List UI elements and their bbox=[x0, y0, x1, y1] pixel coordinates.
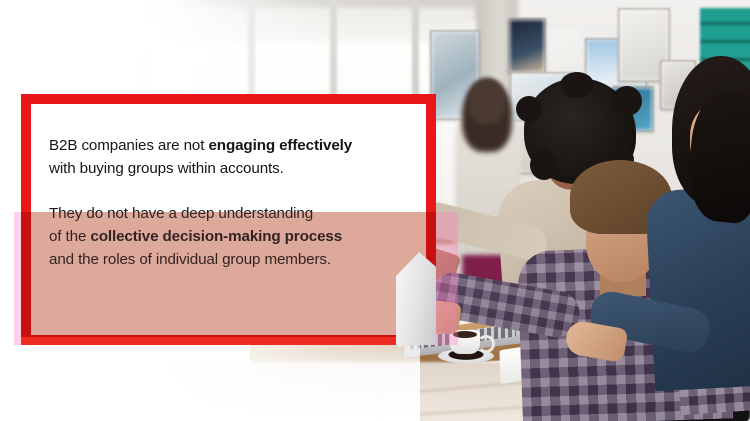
body-text: They do not have a deep understanding bbox=[49, 205, 313, 222]
body-text: and the roles of individual group member… bbox=[49, 251, 331, 268]
paragraph-gap bbox=[49, 180, 395, 202]
callout-text-line: B2B companies are not engaging effective… bbox=[49, 134, 395, 157]
body-text: with buying groups within accounts. bbox=[49, 160, 284, 177]
callout-text-line: and the roles of individual group member… bbox=[49, 248, 395, 271]
callout-text-line: They do not have a deep understanding bbox=[49, 202, 395, 225]
callout-text-line: with buying groups within accounts. bbox=[49, 157, 395, 180]
body-text: of the bbox=[49, 228, 90, 245]
paragraph-2: They do not have a deep understandingof … bbox=[49, 202, 395, 271]
slide-canvas: B2B companies are not engaging effective… bbox=[0, 0, 750, 421]
callout-text-block: B2B companies are not engaging effective… bbox=[49, 134, 395, 271]
emphasis-text: collective decision-making process bbox=[90, 228, 342, 245]
emphasis-text: engaging effectively bbox=[208, 137, 352, 154]
paragraph-1: B2B companies are not engaging effective… bbox=[49, 134, 395, 180]
callout-text-line: of the collective decision-making proces… bbox=[49, 225, 395, 248]
body-text: B2B companies are not bbox=[49, 137, 208, 154]
